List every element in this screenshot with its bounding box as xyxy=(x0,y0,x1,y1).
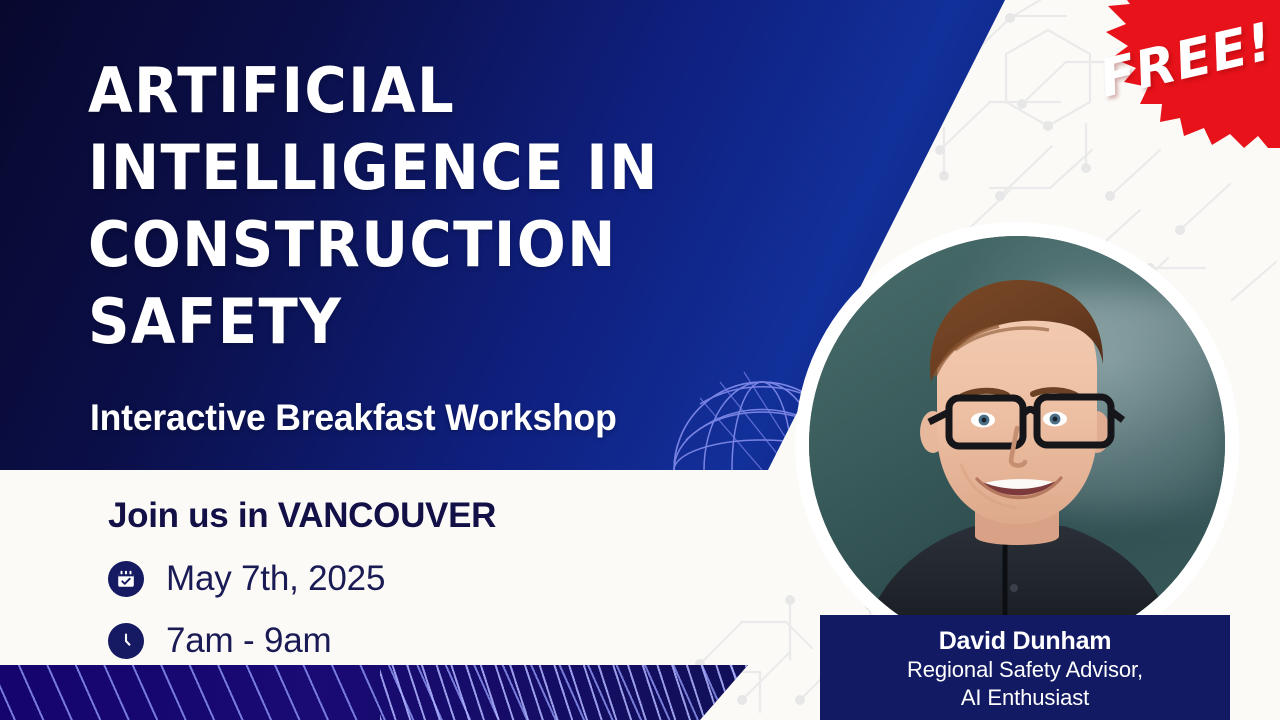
headline-line-4: Safety xyxy=(88,283,739,360)
free-badge-label: FREE! xyxy=(1095,16,1278,106)
portrait-figure xyxy=(809,236,1225,652)
speaker-portrait xyxy=(795,222,1239,666)
time-value: 7am - 9am xyxy=(166,620,331,662)
speaker-name: David Dunham xyxy=(820,626,1230,656)
speaker-nameplate: David Dunham Regional Safety Advisor, AI… xyxy=(820,615,1230,720)
headline-line-1: Artificial xyxy=(88,52,739,129)
speaker-role-line-1: Regional Safety Advisor, xyxy=(820,656,1230,684)
free-badge: FREE! xyxy=(1062,0,1280,148)
headline-line-2: Intelligence in xyxy=(88,129,739,206)
bottom-stripe-decoration xyxy=(0,665,790,720)
city-line: Join us in VANCOUVER xyxy=(108,494,496,538)
calendar-icon xyxy=(108,561,144,597)
event-poster: Artificial Intelligence in Construction … xyxy=(0,0,1280,720)
subtitle: Interactive Breakfast Workshop xyxy=(90,394,617,442)
date-value: May 7th, 2025 xyxy=(166,558,385,600)
time-row: 7am - 9am xyxy=(108,620,496,662)
clock-icon xyxy=(108,623,144,659)
headline-line-3: Construction xyxy=(88,206,739,283)
event-details: Join us in VANCOUVER May 7th, 2025 xyxy=(108,494,496,662)
speaker-role-line-2: AI Enthusiast xyxy=(820,684,1230,712)
free-badge-label-wrap: FREE! xyxy=(1062,0,1280,148)
date-row: May 7th, 2025 xyxy=(108,558,496,600)
headline-group: Artificial Intelligence in Construction … xyxy=(88,52,788,360)
portrait-photo xyxy=(809,236,1225,652)
